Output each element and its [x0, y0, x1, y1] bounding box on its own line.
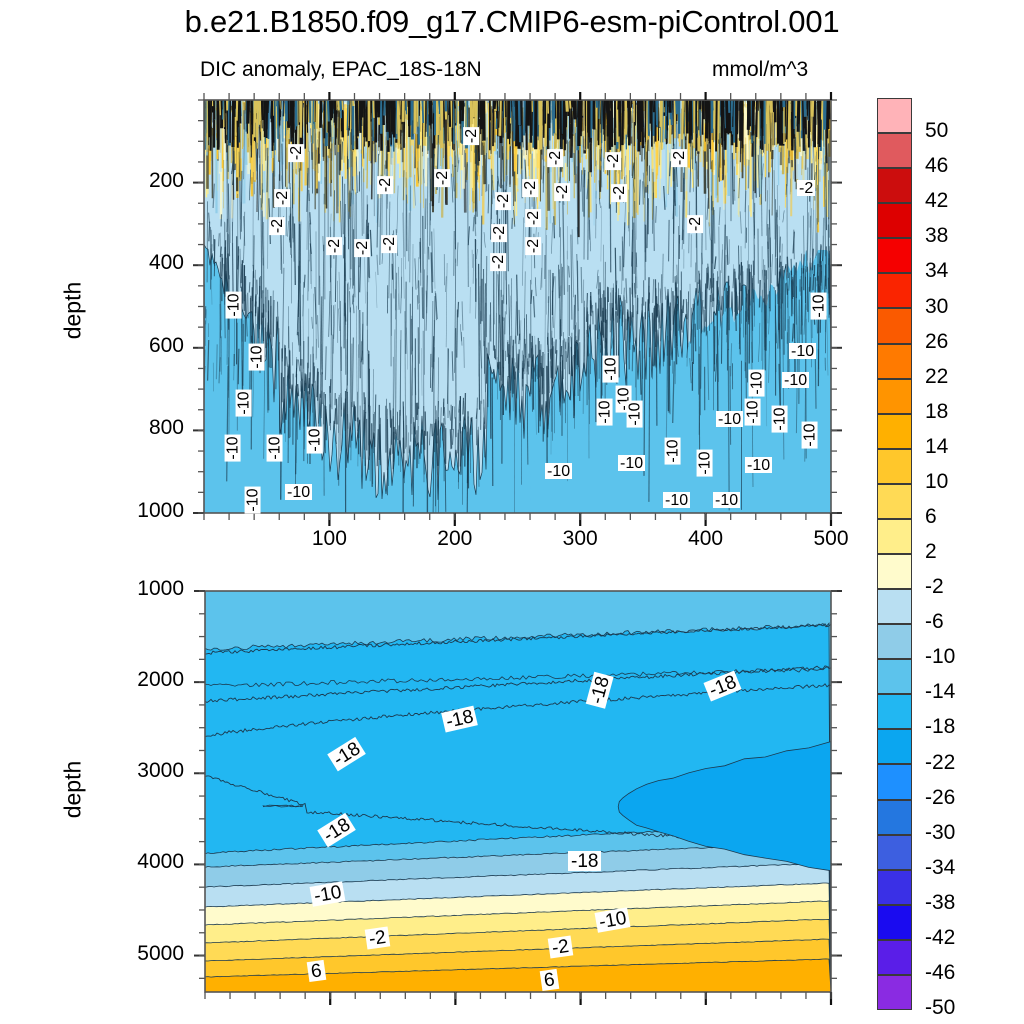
- contour-label: -2: [269, 217, 285, 235]
- figure-root: b.e21.B1850.f09_g17.CMIP6-esm-piControl.…: [0, 0, 1024, 1024]
- contour-label: -10: [789, 343, 816, 359]
- colorbar-tick-label: 6: [925, 505, 937, 529]
- contour-label: -2: [525, 209, 541, 227]
- contour-label: -10: [267, 434, 283, 461]
- colorbar-band: [877, 729, 912, 764]
- y-tick-label-bottom: 2000: [94, 668, 184, 692]
- colorbar-tick-label: 22: [925, 365, 948, 389]
- colorbar-band: [877, 344, 912, 379]
- colorbar-tick-label: 2: [925, 540, 937, 564]
- contour-label: -10: [749, 369, 765, 396]
- x-tick-label-top: 200: [415, 527, 495, 551]
- contour-label: -2: [490, 253, 506, 271]
- colorbar-tick-label: -2: [925, 575, 944, 599]
- contour-label: -10: [772, 405, 788, 432]
- y-tick-label-bottom: 5000: [94, 942, 184, 966]
- contour-label: -10: [697, 449, 713, 476]
- plot-subtitle: DIC anomaly, EPAC_18S-18N: [200, 58, 482, 82]
- contour-label: -10: [307, 426, 323, 453]
- colorbar-tick-label: 42: [925, 189, 948, 213]
- contour-label: -10: [811, 292, 827, 319]
- y-tick-label-bottom: 1000: [94, 577, 184, 601]
- colorbar-tick-label: 18: [925, 400, 948, 424]
- contour-label: -10: [249, 343, 265, 370]
- contour-label: -10: [745, 398, 761, 425]
- colorbar-band: [877, 449, 912, 484]
- contour-label: -10: [545, 463, 572, 479]
- colorbar-band: [877, 694, 912, 729]
- contour-label: -10: [665, 437, 681, 464]
- contour-label: -2: [671, 149, 687, 167]
- contour-label: -10: [226, 291, 242, 318]
- contour-label: -2: [797, 180, 815, 196]
- colorbar-band: [877, 133, 912, 168]
- contour-label: -10: [285, 484, 312, 500]
- colorbar-band: [877, 414, 912, 449]
- y-tick-label-top: 1000: [104, 499, 184, 523]
- y-tick-label-top: 400: [104, 251, 184, 275]
- contour-label: -2: [434, 169, 450, 187]
- deep-ocean-axes: [180, 583, 860, 1024]
- colorbar-band: [877, 940, 912, 975]
- x-tick-label-top: 100: [289, 527, 369, 551]
- colorbar-band: [877, 273, 912, 308]
- contour-label: -10: [802, 421, 818, 448]
- contour-label: -10: [597, 398, 613, 425]
- contour-label: -10: [782, 372, 809, 388]
- contour-label: -2: [491, 224, 507, 242]
- y-tick-label-top: 200: [104, 169, 184, 193]
- contour-label: -2: [548, 936, 573, 959]
- contour-label: -10: [716, 411, 743, 427]
- contour-label: -10: [225, 434, 241, 461]
- contour-label: -2: [463, 127, 479, 145]
- colorbar-band: [877, 659, 912, 694]
- contour-label: -2: [288, 144, 304, 162]
- colorbar-tick-label: -38: [925, 891, 955, 915]
- contour-label: -2: [354, 239, 370, 257]
- page-title: b.e21.B1850.f09_g17.CMIP6-esm-piControl.…: [0, 4, 1024, 40]
- colorbar-tick-label: -42: [925, 926, 955, 950]
- x-tick-label-top: 400: [666, 527, 746, 551]
- colorbar-tick-label: -22: [925, 751, 955, 775]
- colorbar-band: [877, 484, 912, 519]
- colorbar-tick-label: -6: [925, 610, 944, 634]
- contour-label: -2: [377, 176, 393, 194]
- contour-label: -2: [554, 183, 570, 201]
- colorbar-tick-label: -50: [925, 996, 955, 1020]
- contour-label: -2: [381, 235, 397, 253]
- colorbar-band: [877, 905, 912, 940]
- colorbar-tick-label: -14: [925, 680, 955, 704]
- contour-label: -10: [663, 492, 690, 508]
- colorbar-tick-label: -34: [925, 856, 955, 880]
- contour-label: -2: [326, 237, 342, 255]
- colorbar-tick-label: 38: [925, 224, 948, 248]
- y-tick-label-bottom: 4000: [94, 850, 184, 874]
- contour-label: -2: [687, 215, 703, 233]
- colorbar-band: [877, 203, 912, 238]
- colorbar-band: [877, 168, 912, 203]
- colorbar-tick-label: -18: [925, 715, 955, 739]
- colorbar-band: [877, 800, 912, 835]
- colorbar-tick-label: 14: [925, 435, 948, 459]
- colorbar-band: [877, 835, 912, 870]
- colorbar-band: [877, 238, 912, 273]
- y-tick-label-bottom: 3000: [94, 759, 184, 783]
- y-tick-label-top: 800: [104, 416, 184, 440]
- contour-label: -2: [611, 184, 627, 202]
- colorbar-tick-label: -26: [925, 786, 955, 810]
- colorbar-band: [877, 589, 912, 624]
- contour-label: -10: [627, 400, 643, 427]
- contour-label: -10: [245, 486, 261, 513]
- colorbar-band: [877, 519, 912, 554]
- colorbar-tick-label: 46: [925, 154, 948, 178]
- contour-label: -18: [568, 851, 601, 871]
- x-tick-label-top: 300: [540, 527, 620, 551]
- colorbar-tick-label: -30: [925, 821, 955, 845]
- colorbar-band: [877, 554, 912, 589]
- contour-label: -2: [522, 179, 538, 197]
- contour-label: -2: [274, 189, 290, 207]
- contour-label: -10: [236, 389, 252, 416]
- colorbar-band: [877, 975, 912, 1010]
- colorbar-band: [877, 308, 912, 343]
- contour-label: -10: [618, 455, 645, 471]
- depth-axis-label-bottom: depth: [60, 750, 87, 830]
- depth-axis-label-top: depth: [60, 271, 87, 351]
- colorbar-tick-label: 30: [925, 295, 948, 319]
- colorbar-band: [877, 379, 912, 414]
- colorbar-tick-label: 50: [925, 119, 948, 143]
- colorbar-tick-label: 34: [925, 259, 948, 283]
- units-label: mmol/m^3: [712, 58, 808, 82]
- contour-label: 6: [540, 969, 559, 991]
- contour-label: 6: [307, 960, 326, 982]
- contour-label: -2: [365, 927, 390, 950]
- contour-label: -10: [745, 457, 772, 473]
- contour-label: -2: [605, 152, 621, 170]
- x-tick-label-top: 500: [791, 527, 871, 551]
- colorbar-tick-label: -46: [925, 961, 955, 985]
- colorbar-tick-label: 26: [925, 330, 948, 354]
- colorbar[interactable]: [877, 98, 912, 1010]
- colorbar-band: [877, 870, 912, 905]
- contour-label: -2: [547, 149, 563, 167]
- contour-label: -2: [495, 192, 511, 210]
- y-tick-label-top: 600: [104, 334, 184, 358]
- colorbar-tick-label: 10: [925, 470, 948, 494]
- contour-label: -2: [525, 237, 541, 255]
- contour-label: -10: [713, 492, 740, 508]
- colorbar-band: [877, 764, 912, 799]
- contour-label: -10: [603, 355, 619, 382]
- colorbar-band: [877, 98, 912, 133]
- colorbar-band: [877, 624, 912, 659]
- colorbar-tick-label: -10: [925, 645, 955, 669]
